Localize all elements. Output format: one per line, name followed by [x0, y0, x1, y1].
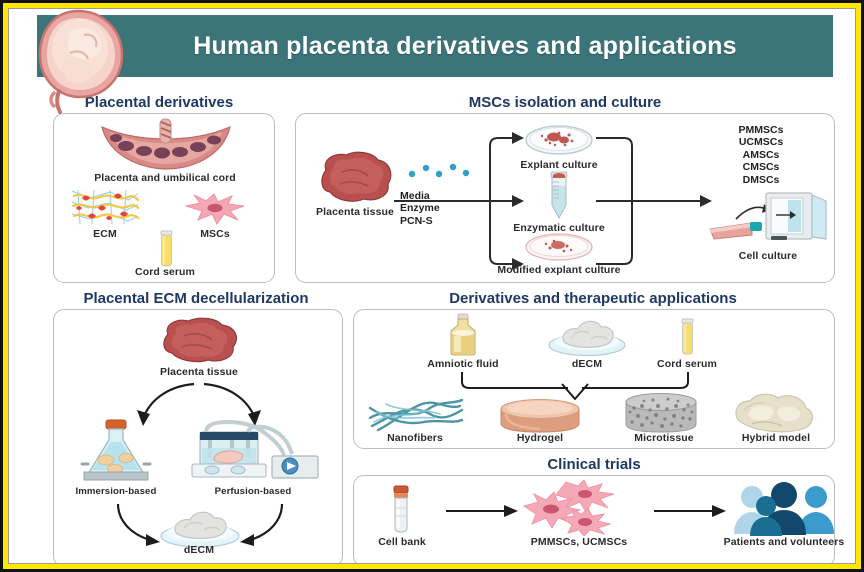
caption-cord-serum-derivative: Cord serum: [642, 358, 732, 370]
caption-mscs: MSCs: [182, 228, 248, 240]
caption-decm-derivative: dECM: [540, 358, 634, 370]
caption-placenta-umbilical-cord: Placenta and umbilical cord: [54, 172, 276, 184]
cell-type-pmmscs: PMMSCs: [686, 124, 836, 136]
petri-dish-modified-icon: [524, 232, 594, 262]
perfusion-bioreactor-icon: [186, 418, 320, 484]
caption-placenta-tissue-decell: Placenta tissue: [54, 366, 344, 378]
arrow-mscs-to-patients: [654, 504, 726, 518]
panel-placental-derivatives: Placenta and umbilical cord: [53, 113, 275, 283]
panel-msc-isolation: Placenta tissue Media Enzyme PCN-S: [295, 113, 835, 283]
serum-vial-icon: [676, 318, 698, 356]
placenta-tissue-icon: [154, 316, 244, 364]
page-title: Human placenta derivatives and applicati…: [193, 32, 737, 61]
caption-decm: dECM: [54, 544, 344, 556]
decm-dish-icon: [156, 506, 244, 548]
caption-patients-volunteers: Patients and volunteers: [714, 536, 854, 548]
panel-ecm-decellularization: Placenta tissue: [53, 309, 343, 564]
caption-ecm: ECM: [70, 228, 140, 240]
caption-immersion-based: Immersion-based: [58, 486, 174, 497]
figure-header-bar: Human placenta derivatives and applicati…: [37, 15, 833, 77]
section-title-derivatives-applications: Derivatives and therapeutic applications: [351, 290, 835, 307]
cell-culture-flask-incubator-icon: [708, 189, 828, 247]
caption-microtissue: Microtissue: [612, 432, 716, 444]
decm-dish-icon: [544, 316, 630, 356]
msc-cell-icon: [184, 192, 246, 226]
people-group-icon: [732, 484, 836, 536]
msc-cells-group-icon: [522, 480, 632, 536]
placenta-tissue-icon: [314, 150, 394, 204]
petri-dish-explant-icon: [524, 124, 594, 156]
cryovial-icon: [388, 486, 414, 534]
cell-type-cmscs: CMSCs: [686, 161, 836, 173]
caption-cord-serum: Cord serum: [54, 266, 276, 278]
caption-perfusion-based: Perfusion-based: [192, 486, 314, 497]
caption-cell-bank: Cell bank: [360, 536, 444, 548]
cell-type-list: PMMSCs UCMSCs AMSCs CMSCs DMSCs: [686, 124, 836, 186]
womb-fetus-icon: [26, 9, 136, 114]
cell-type-dmscs: DMSCs: [686, 174, 836, 186]
branching-arrows-left: [394, 126, 524, 276]
cell-type-amscs: AMSCs: [686, 149, 836, 161]
caption-hydrogel: Hydrogel: [490, 432, 590, 444]
figure-canvas: Human placenta derivatives and applicati…: [8, 8, 856, 564]
caption-hybrid-model: Hybrid model: [722, 432, 830, 444]
microtissue-scaffold-icon: [622, 392, 700, 434]
panel-derivatives-applications: Amniotic fluid dECM Cord serum: [353, 309, 835, 449]
section-title-msc-isolation: MSCs isolation and culture: [295, 94, 835, 111]
panel-clinical-trials: Cell bank PMMSCs, UCMSCs: [353, 475, 835, 564]
caption-cell-culture: Cell culture: [708, 250, 828, 262]
ecm-mesh-icon: [70, 188, 140, 226]
centrifuge-tube-icon: [545, 172, 573, 220]
section-title-clinical-trials: Clinical trials: [353, 456, 835, 473]
arrow-cellbank-to-mscs: [446, 504, 518, 518]
serum-vial-icon: [155, 230, 177, 268]
figure-outer-frame: Human placenta derivatives and applicati…: [0, 0, 864, 572]
caption-pmmscs-ucmscs: PMMSCs, UCMSCs: [504, 536, 654, 548]
hybrid-model-icon: [730, 392, 818, 434]
caption-amniotic-fluid: Amniotic fluid: [402, 358, 524, 370]
caption-nanofibers: Nanofibers: [362, 432, 468, 444]
amniotic-fluid-bottle-icon: [444, 314, 482, 356]
placenta-umbilical-cord-icon: [96, 119, 236, 171]
nanofibers-icon: [368, 396, 464, 432]
section-title-ecm-decellularization: Placental ECM decellularization: [41, 290, 351, 307]
hydrogel-disc-icon: [498, 398, 582, 434]
cell-type-ucmscs: UCMSCs: [686, 136, 836, 148]
erlenmeyer-flask-icon: [78, 420, 154, 482]
